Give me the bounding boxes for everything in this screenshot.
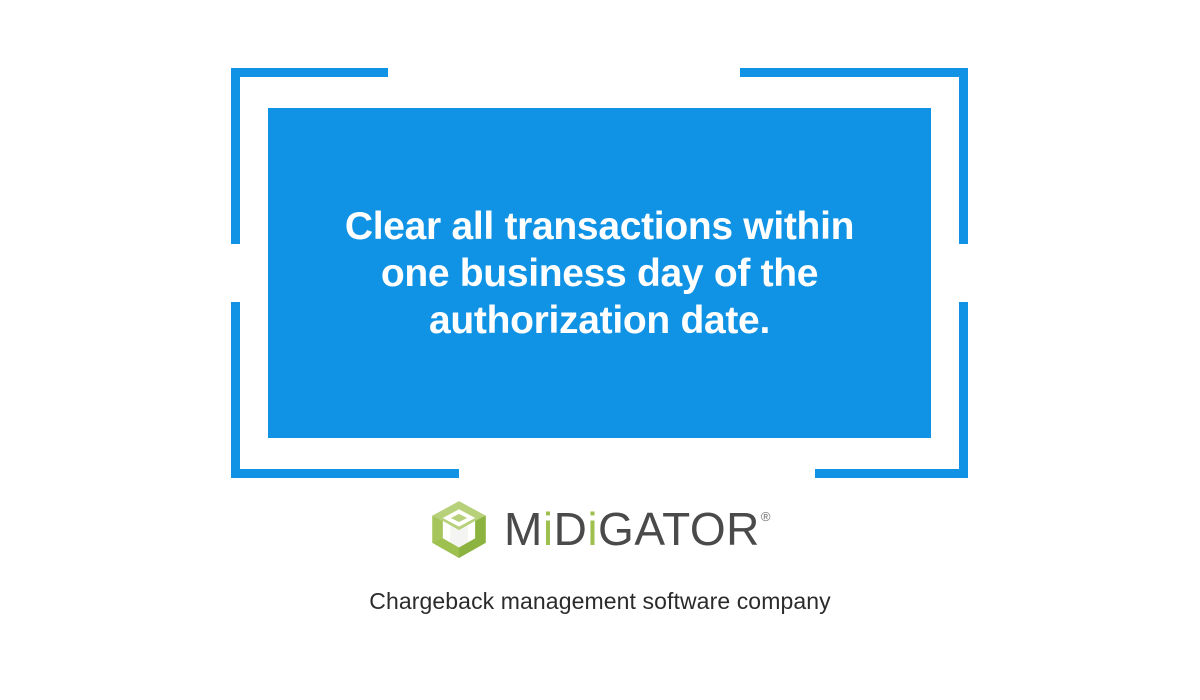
quote-card: Clear all transactions within one busine… — [268, 108, 931, 438]
wordmark-letter-d: D — [554, 506, 588, 552]
registered-trademark-symbol: ® — [761, 510, 771, 523]
headline-line-3: authorization date. — [300, 297, 900, 344]
midigator-cube-icon — [430, 500, 488, 558]
brand-tagline: Chargeback management software company — [0, 588, 1200, 615]
bracket-arm-vertical — [959, 68, 968, 244]
slide-canvas: Clear all transactions within one busine… — [0, 0, 1200, 700]
headline-line-1: Clear all transactions within — [300, 203, 900, 250]
bracket-arm-horizontal — [815, 469, 968, 478]
bracket-arm-horizontal — [740, 68, 968, 77]
bracket-arm-horizontal — [231, 469, 459, 478]
bracket-arm-vertical — [959, 302, 968, 478]
bracket-arm-horizontal — [231, 68, 388, 77]
headline-line-2: one business day of the — [300, 250, 900, 297]
bracket-arm-vertical — [231, 68, 240, 244]
wordmark-letters-gator: GATOR — [598, 506, 760, 552]
midigator-wordmark: M i D i GATOR ® — [504, 506, 770, 552]
wordmark-letter-m1: M — [504, 506, 543, 552]
wordmark-letter-i2: i — [587, 506, 598, 552]
page-title: Clear all transactions within one busine… — [300, 203, 900, 344]
bracket-arm-vertical — [231, 302, 240, 478]
wordmark-letter-i1: i — [543, 506, 554, 552]
brand-logo-lockup: M i D i GATOR ® — [0, 498, 1200, 560]
